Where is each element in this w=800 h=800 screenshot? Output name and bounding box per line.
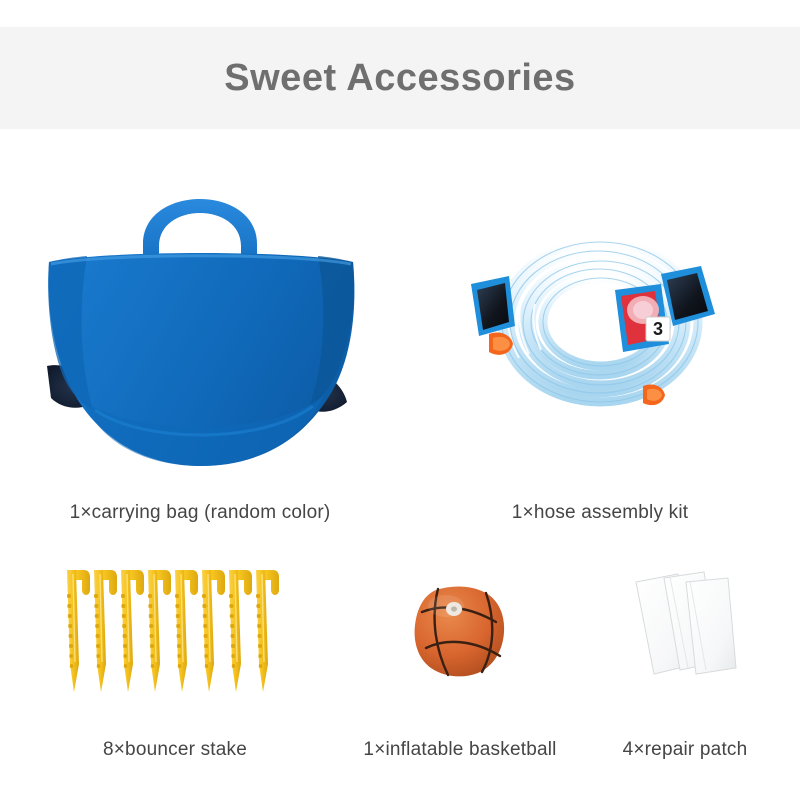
carrying-bag-caption: 1×carrying bag (random color) [70, 502, 331, 524]
product-item-hose-assembly-kit: 3 1×hose assembly kit [400, 150, 800, 530]
stake-item [175, 570, 198, 692]
stake-item [121, 570, 144, 692]
stake-item [229, 570, 252, 692]
page-title: Sweet Accessories [224, 57, 575, 100]
stakes-icon [65, 564, 285, 699]
product-item-carrying-bag: 1×carrying bag (random color) [0, 150, 400, 530]
hose-label-card: 3 [615, 284, 670, 352]
bouncer-stake-caption: 8×bouncer stake [103, 739, 247, 761]
product-item-inflatable-basketball: 1×inflatable basketball [350, 548, 570, 763]
stake-item [94, 570, 117, 692]
hose-kit-caption: 1×hose assembly kit [512, 502, 688, 524]
stake-item [202, 570, 225, 692]
hose-connector-left [471, 276, 515, 336]
product-row-bottom: 8×bouncer stake [0, 548, 800, 763]
product-item-bouncer-stake: 8×bouncer stake [0, 548, 350, 763]
stake-item [67, 570, 90, 692]
basketball-icon [408, 582, 512, 682]
carrying-bag-image [0, 150, 400, 502]
patches-icon [620, 568, 750, 688]
header-band: Sweet Accessories [0, 27, 800, 129]
hose-kit-image: 3 [400, 150, 800, 502]
product-item-repair-patch: 4×repair patch [570, 548, 800, 763]
bouncer-stake-image [0, 548, 350, 739]
basketball-image [350, 548, 570, 739]
hose-icon: 3 [465, 222, 735, 422]
stake-item [148, 570, 171, 692]
basketball-caption: 1×inflatable basketball [363, 739, 556, 761]
repair-patch-image [570, 548, 800, 739]
hose-label-number: 3 [653, 319, 663, 339]
repair-patch-caption: 4×repair patch [623, 739, 748, 761]
bag-icon [35, 154, 365, 474]
stake-item [256, 570, 279, 692]
product-row-top: 1×carrying bag (random color) [0, 150, 800, 530]
